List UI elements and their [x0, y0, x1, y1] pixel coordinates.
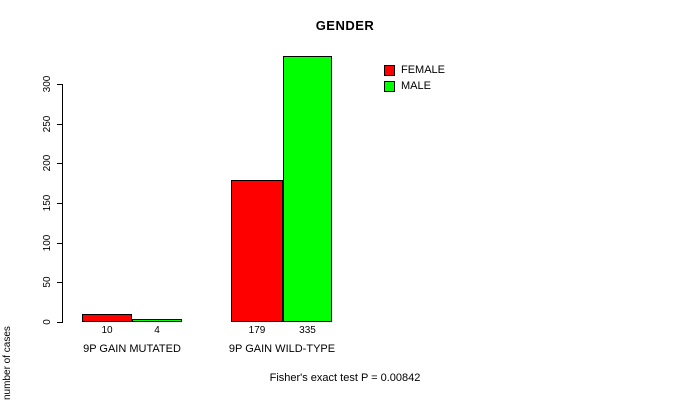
y-axis-tick-label: 200 [43, 155, 53, 172]
y-axis-tick-label: 300 [43, 76, 53, 93]
legend-item[interactable]: MALE [384, 78, 445, 94]
bar-value-label: 179 [249, 325, 266, 336]
chart-title: GENDER [0, 18, 690, 33]
footer-annotation: Fisher's exact test P = 0.00842 [0, 372, 690, 384]
x-axis-group-label: 9P GAIN MUTATED [83, 343, 181, 355]
y-axis-tick-mark [57, 282, 62, 283]
legend-label: FEMALE [401, 65, 445, 76]
legend-swatch-icon [384, 65, 395, 76]
bar-value-label: 4 [154, 325, 160, 336]
y-axis-tick-mark [57, 163, 62, 164]
y-axis-tick-label: 250 [43, 115, 53, 132]
bar[interactable] [231, 180, 283, 322]
bar[interactable] [132, 319, 182, 322]
y-axis-tick-mark [57, 322, 62, 323]
legend-swatch-icon [384, 81, 395, 92]
y-axis-tick-label: 0 [43, 319, 53, 325]
y-axis-tick-label: 150 [43, 195, 53, 212]
y-axis-tick-mark [57, 124, 62, 125]
bar-value-label: 10 [101, 325, 112, 336]
y-axis-tick-label: 50 [43, 277, 53, 288]
bar-value-label: 335 [299, 325, 316, 336]
chart-canvas: GENDER number of cases 05010015020025030… [0, 0, 690, 400]
y-axis-line [62, 84, 63, 323]
x-axis-group-label: 9P GAIN WILD-TYPE [229, 343, 335, 355]
legend: FEMALEMALE [384, 62, 445, 94]
y-axis-title: number of cases [2, 0, 13, 400]
plot-area: 050100150200250300 [62, 40, 362, 322]
y-axis-tick-mark [57, 84, 62, 85]
y-axis-tick-mark [57, 203, 62, 204]
bar[interactable] [283, 56, 332, 322]
legend-item[interactable]: FEMALE [384, 62, 445, 78]
y-axis-tick-mark [57, 243, 62, 244]
legend-label: MALE [401, 81, 431, 92]
bar[interactable] [82, 314, 132, 322]
y-axis-tick-label: 100 [43, 234, 53, 251]
